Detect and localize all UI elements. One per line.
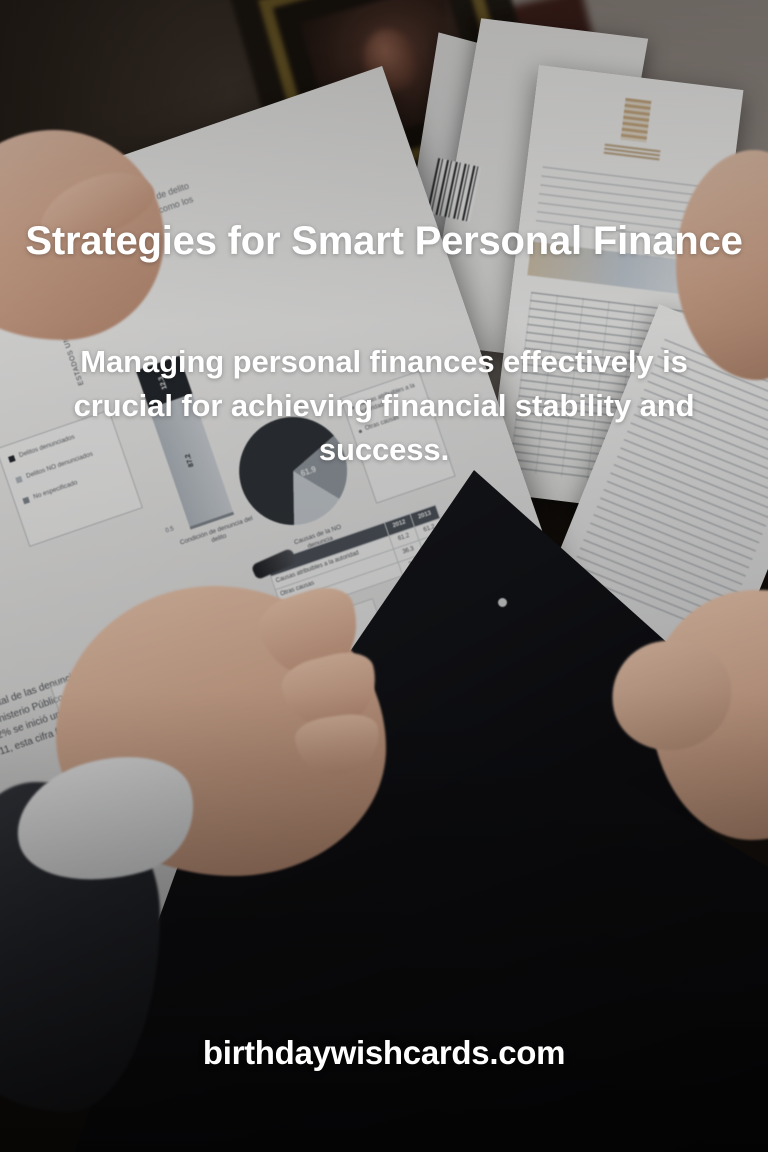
page-title: Strategies for Smart Personal Finance [0,218,768,265]
text-overlay: Strategies for Smart Personal Finance Ma… [0,0,768,1152]
website-watermark: birthdaywishcards.com [0,1034,768,1072]
page-subtitle: Managing personal finances effectively i… [0,340,768,472]
finance-quote-card: La ENVIPE 2013 permite conocer la propor… [0,0,768,1152]
